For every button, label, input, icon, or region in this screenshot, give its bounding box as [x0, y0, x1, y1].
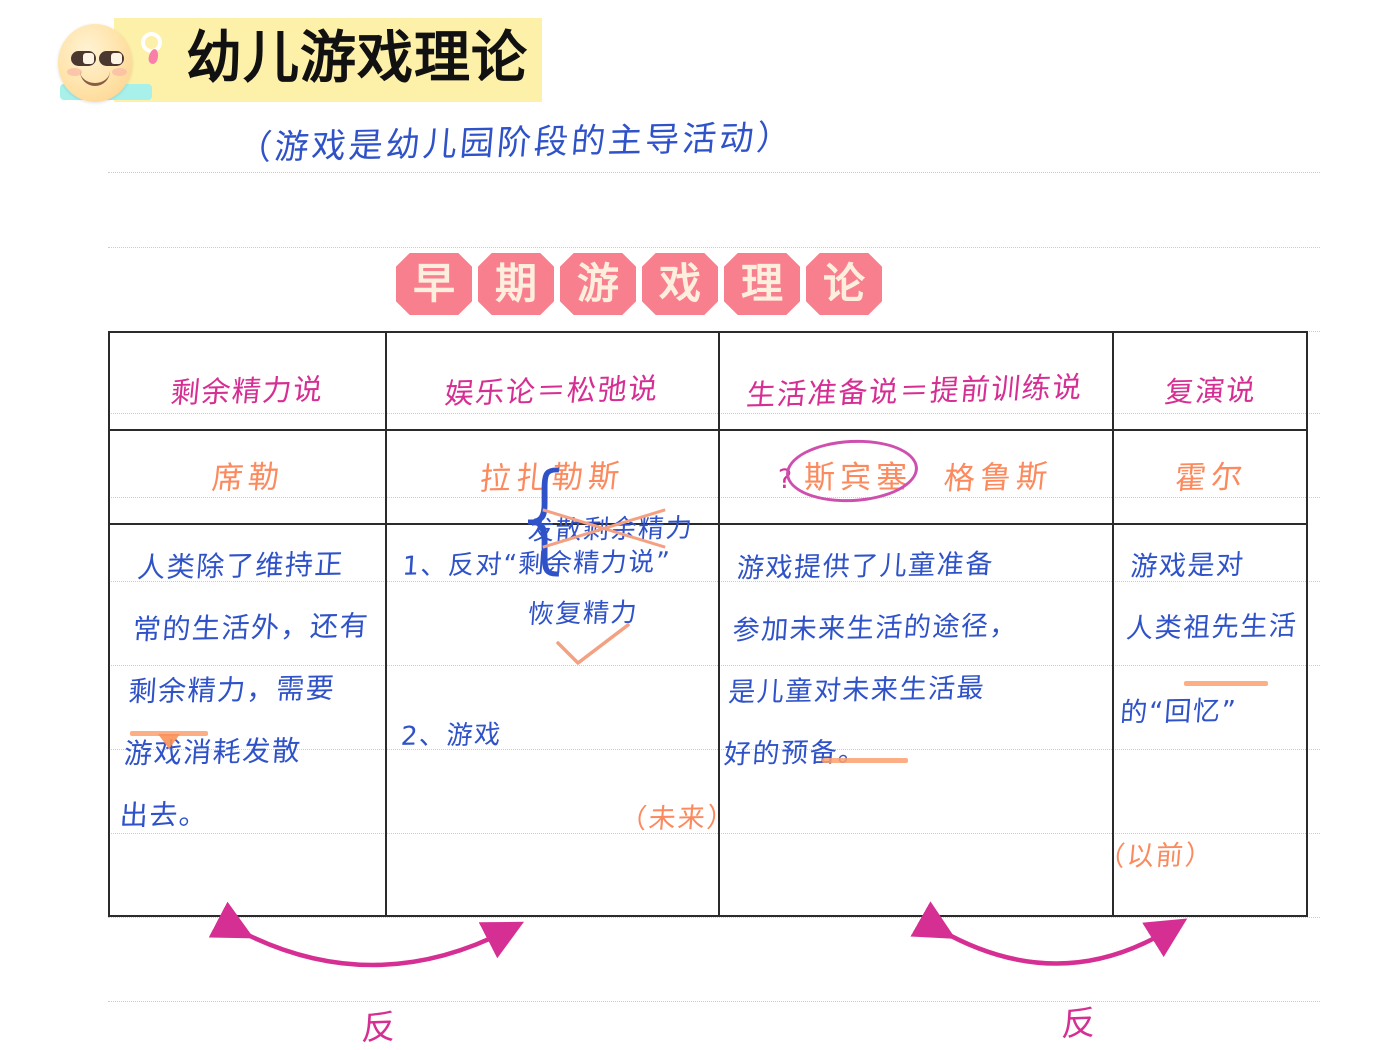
theory-note: （未来）	[618, 791, 1114, 841]
theory-note: （以前）	[1096, 833, 1312, 878]
theorist-name-cell: 席勒	[209, 455, 286, 504]
theory-description-cell: 游戏是对 人类祖先生活 的“回忆” （以前）	[1124, 545, 1310, 876]
page-header: 幼儿游戏理论	[52, 14, 542, 106]
theory-name-cell: 复演说	[1163, 368, 1259, 414]
table-row: 娱乐论＝松弛说	[385, 361, 718, 421]
arrow-left-curve	[238, 930, 508, 965]
description-line: 常的生活外，还有	[130, 605, 392, 671]
table-row: 生活准备说＝提前训练说	[718, 361, 1112, 421]
section-heading: 早 期 游 戏 理 论	[396, 253, 882, 315]
table-row-divider	[110, 523, 1306, 525]
orange-underline-marker	[822, 758, 908, 763]
arrow-left-label: 反	[360, 999, 398, 1049]
smiling-face-sticker-icon	[52, 14, 134, 106]
checkmark-icon	[554, 623, 634, 672]
arrow-right-curve	[940, 928, 1172, 964]
description-line: 游戏提供了儿童准备	[734, 542, 1121, 611]
page-subtitle: （游戏是幼儿园阶段的主导活动）	[235, 113, 795, 175]
description-line: 出去。	[117, 791, 379, 857]
table-row: 席勒	[110, 449, 385, 509]
table-row: 剩余精力说	[110, 361, 385, 421]
section-heading-char: 游	[560, 253, 636, 315]
question-mark-annotation: ?	[778, 464, 792, 495]
theory-name-cell: 娱乐论＝松弛说	[442, 366, 660, 415]
description-line: 的“回忆”	[1116, 689, 1308, 776]
theorist-name-cell: 格鲁斯	[942, 454, 1055, 503]
title-highlight-band: 幼儿游戏理论	[114, 18, 542, 102]
section-heading-char: 戏	[642, 253, 718, 315]
description-line: 2、游戏	[400, 720, 503, 752]
table-row: 复演说	[1112, 361, 1310, 421]
theory-description-cell: 游戏提供了儿童准备 参加未来生活的途径， 是儿童对未来生活最 好的预备。 （未来…	[730, 545, 1112, 836]
arrow-right-label: 反	[1060, 995, 1098, 1045]
table-row-divider	[110, 429, 1306, 431]
description-line: 好的预备。	[721, 728, 1108, 797]
checkmark-svg	[554, 623, 634, 667]
section-heading-char: 理	[724, 253, 800, 315]
description-line: 剩余精力，需要	[126, 667, 388, 733]
description-line: 人类祖先生活	[1122, 605, 1314, 692]
section-heading-char: 早	[396, 253, 472, 315]
early-play-theory-table: 剩余精力说 娱乐论＝松弛说 生活准备说＝提前训练说 复演说 席勒 拉扎勒斯 ? …	[108, 331, 1308, 917]
lightbulb-icon	[138, 32, 166, 68]
orange-arrow-marker-icon	[158, 734, 180, 749]
description-line: 是儿童对未来生活最	[725, 666, 1112, 735]
cross-out-marker-icon	[540, 503, 660, 555]
section-heading-char: 期	[478, 253, 554, 315]
circled-theorist-annotation: 斯宾塞	[798, 453, 918, 504]
table-row: 霍尔	[1112, 449, 1310, 509]
page-title: 幼儿游戏理论	[186, 31, 528, 87]
theorist-alt-name: 斯宾塞	[804, 460, 912, 496]
description-line: 游戏是对	[1128, 543, 1319, 608]
theory-name-cell: 剩余精力说	[169, 367, 326, 415]
description-line: 人类除了维持正	[134, 543, 396, 609]
table-row: ? 斯宾塞 格鲁斯	[718, 449, 1112, 509]
section-heading-char: 论	[806, 253, 882, 315]
theorist-name-cell: 霍尔	[1173, 455, 1250, 504]
theory-name-cell: 生活准备说＝提前训练说	[745, 365, 1086, 417]
description-line: 参加未来生活的途径，	[730, 604, 1117, 673]
orange-underline-marker	[1184, 681, 1268, 686]
theory-description-cell: 人类除了维持正 常的生活外，还有 剩余精力，需要 游戏消耗发散 出去。	[128, 545, 385, 855]
